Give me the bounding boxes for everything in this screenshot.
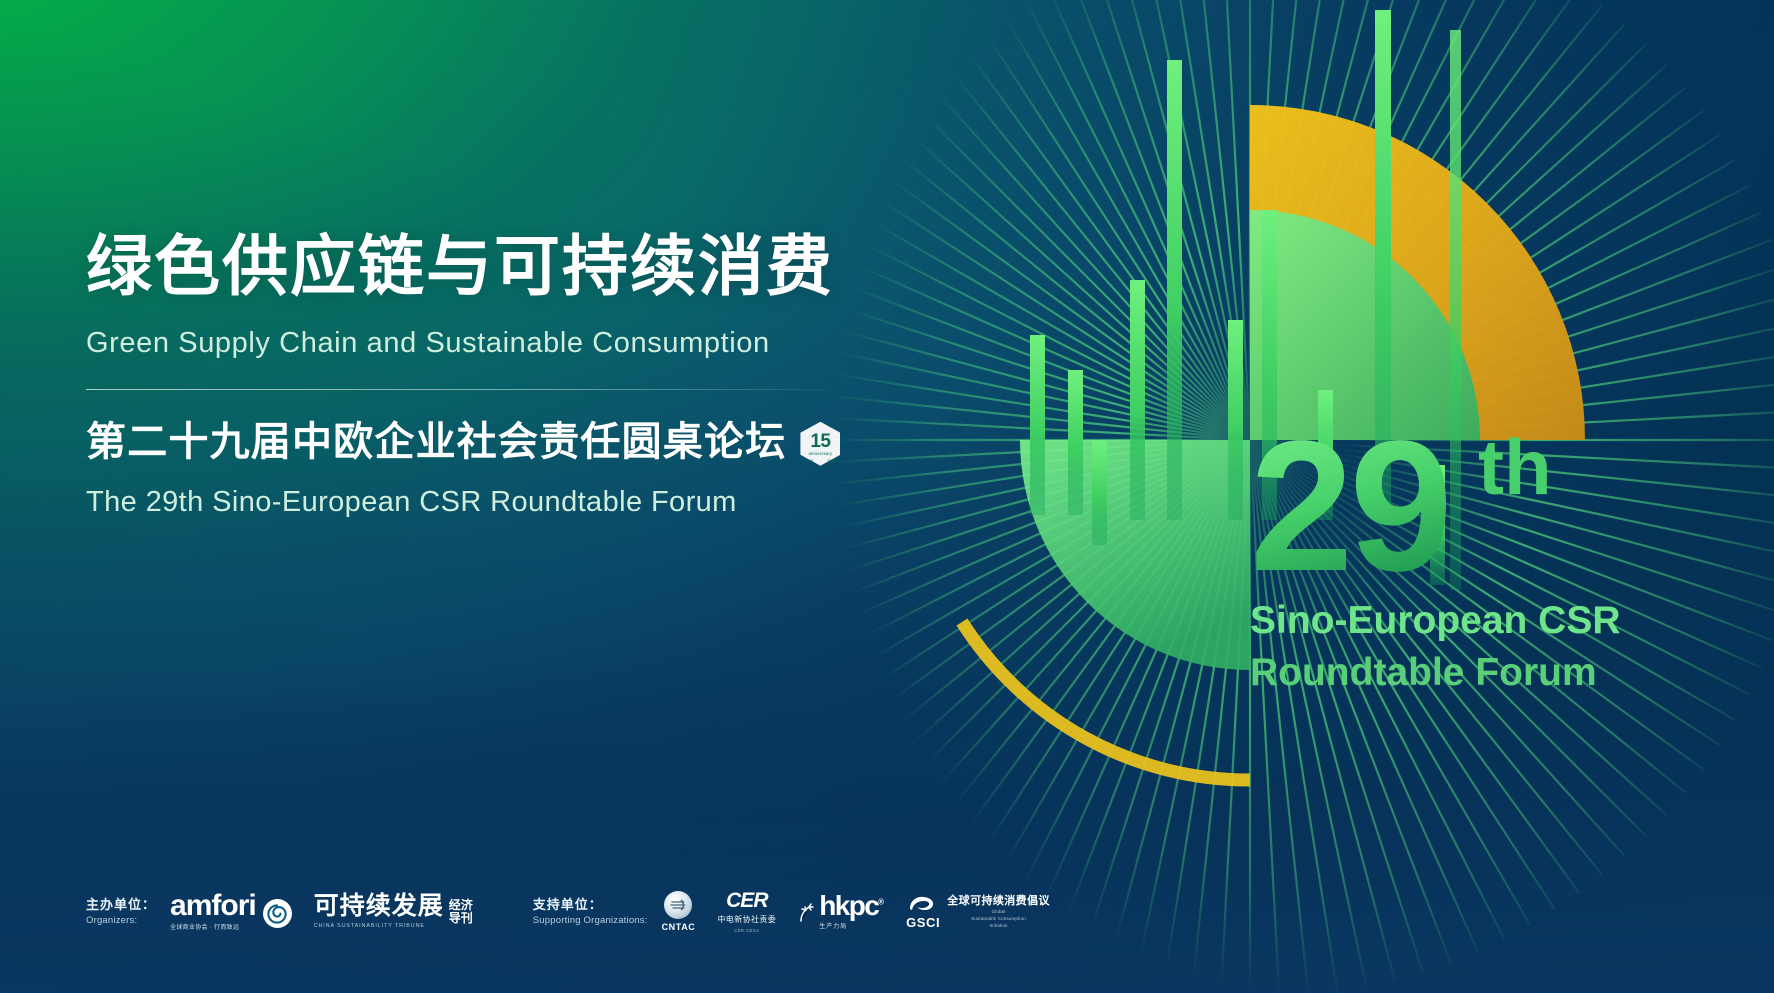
anniversary-number: 15 [808, 432, 832, 451]
cntac-wordmark: CNTAC [662, 922, 696, 932]
logo-amfori: amfori 全球商业协会 · 行而致远 [170, 892, 292, 931]
gsci-leaf-icon [908, 894, 938, 914]
cst-title-cn-2a: 经济 [449, 899, 473, 912]
logo-cer: CER 中电新协社责委 CER·CECA [717, 890, 776, 933]
anniversary-badge-text: 15 anniversary [808, 432, 832, 456]
supporting-group: 支持单位： Supporting Organizations: CNTAC CE… [533, 890, 1072, 933]
background-bottom-fade [0, 663, 1774, 993]
hkpc-spark-icon [798, 901, 815, 923]
anniversary-word: anniversary [808, 452, 832, 456]
cst-title-cn-2b: 导刊 [449, 912, 473, 925]
anniversary-years: 2009 2024 [800, 459, 840, 463]
event-title-cn: 第二十九届中欧企业社会责任圆桌论坛 [86, 420, 786, 464]
gsci-name-cn: 全球可持续消费倡议 [947, 895, 1050, 908]
headline-block: 绿色供应链与可持续消费 Green Supply Chain and Susta… [86, 232, 906, 520]
event-title-row: 第二十九届中欧企业社会责任圆桌论坛 15 anniversary 2009 20… [86, 418, 906, 466]
amfori-wordmark: amfori [170, 889, 256, 922]
theme-title-en: Green Supply Chain and Sustainable Consu… [86, 326, 906, 361]
anniversary-badge: 15 anniversary 2009 2024 [800, 422, 840, 466]
cer-wordmark: CER [726, 890, 767, 911]
logo-china-sustainability-tribune: 可持续发展 CHINA SUSTAINABILITY TRIBUNE 经济 导刊 [314, 894, 473, 929]
divider-rule [86, 389, 826, 390]
sponsor-footer: 主办单位： Organizers: amfori 全球商业协会 · 行而致远 [86, 890, 1072, 933]
cer-name-en: CER·CECA [734, 928, 759, 933]
gsci-mark: GSCI [906, 894, 940, 929]
logo-cntac: CNTAC [662, 891, 696, 932]
cst-title-stack: 经济 导刊 [449, 899, 473, 924]
cer-name-cn: 中电新协社责委 [717, 914, 776, 925]
cst-title-cn: 可持续发展 [314, 892, 444, 920]
organizers-label: 主办单位： Organizers: [86, 897, 156, 927]
poster-canvas: 29 th Sino-European CSR Roundtable Forum… [0, 0, 1774, 993]
anniversary-year-from: 2009 [805, 459, 813, 463]
logo-hkpc: hkpc® 生产力局 [798, 893, 884, 930]
logo-gsci: GSCI 全球可持续消费倡议 Global Sustainable Consum… [906, 894, 1050, 929]
hkpc-wordmark: hkpc® [819, 890, 884, 921]
cst-tagline-en: CHINA SUSTAINABILITY TRIBUNE [314, 923, 444, 929]
organizers-group: 主办单位： Organizers: amfori 全球商业协会 · 行而致远 [86, 892, 495, 931]
gsci-name-en-3: Initiative [947, 923, 1050, 928]
organizers-label-cn: 主办单位： [86, 897, 156, 912]
gsci-name-en-1: Global [947, 909, 1050, 914]
supporting-label-cn: 支持单位： [533, 897, 648, 912]
anniversary-year-to: 2024 [827, 459, 835, 463]
event-title-en: The 29th Sino-European CSR Roundtable Fo… [86, 485, 906, 520]
gsci-name-block: 全球可持续消费倡议 Global Sustainable Consumption… [947, 895, 1050, 929]
cntac-globe-icon [664, 891, 692, 919]
amfori-spiral-icon [263, 899, 292, 928]
gsci-wordmark: GSCI [906, 916, 940, 929]
hkpc-wordmark-text: hkpc [819, 890, 878, 921]
amfori-tagline: 全球商业协会 · 行而致远 [170, 922, 256, 931]
organizers-label-en: Organizers: [86, 915, 156, 926]
supporting-label-en: Supporting Organizations: [533, 915, 648, 926]
supporting-label: 支持单位： Supporting Organizations: [533, 897, 648, 927]
theme-title-cn: 绿色供应链与可持续消费 [86, 232, 906, 302]
gsci-name-en-2: Sustainable Consumption [947, 916, 1050, 921]
hkpc-registered-mark: ® [878, 898, 884, 907]
hkpc-name-cn: 生产力局 [819, 921, 884, 930]
